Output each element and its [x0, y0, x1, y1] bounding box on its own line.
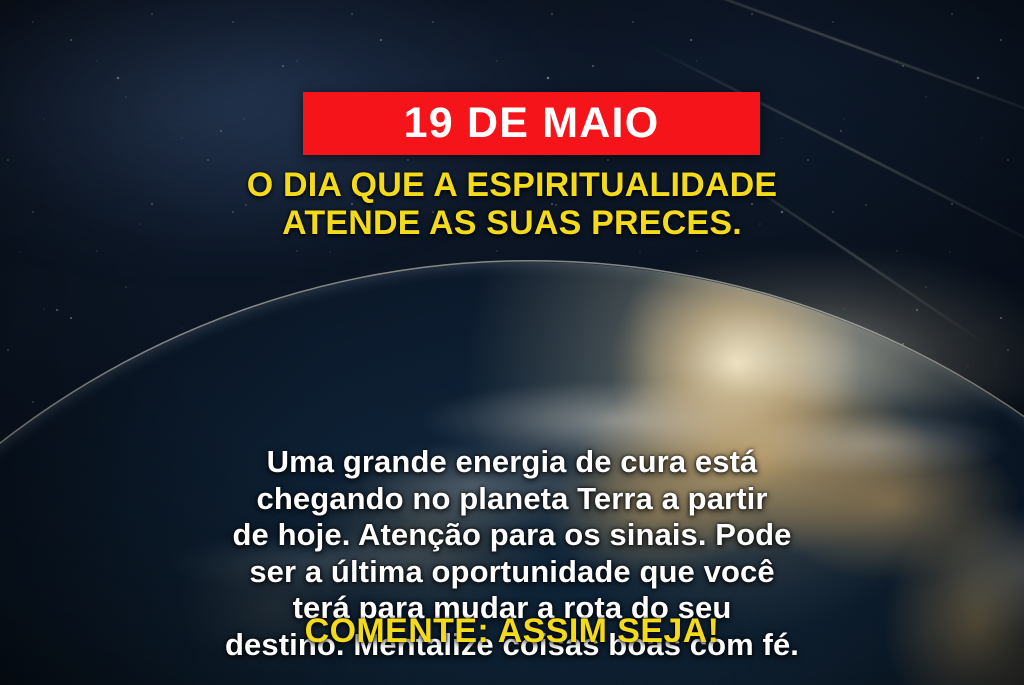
date-badge-label: 19 DE MAIO [404, 102, 660, 145]
date-badge: 19 DE MAIO [303, 92, 760, 155]
body-copy-line-1: Uma grande energia de cura está [0, 444, 1024, 481]
body-copy-line-3: de hoje. Atenção para os sinais. Pode [0, 517, 1024, 554]
body-copy-line-4: ser a última oportunidade que você [0, 554, 1024, 591]
headline: O DIA QUE A ESPIRITUALIDADE ATENDE AS SU… [0, 166, 1024, 242]
poster-content: 19 DE MAIO O DIA QUE A ESPIRITUALIDADE A… [0, 0, 1024, 685]
headline-line-1: O DIA QUE A ESPIRITUALIDADE [0, 166, 1024, 204]
headline-line-2: ATENDE AS SUAS PRECES. [0, 204, 1024, 242]
body-copy-line-2: chegando no planeta Terra a partir [0, 481, 1024, 518]
call-to-action-label: COMENTE: ASSIM SEJA! [305, 612, 720, 650]
call-to-action: COMENTE: ASSIM SEJA! [0, 613, 1024, 650]
poster-canvas: 19 DE MAIO O DIA QUE A ESPIRITUALIDADE A… [0, 0, 1024, 685]
